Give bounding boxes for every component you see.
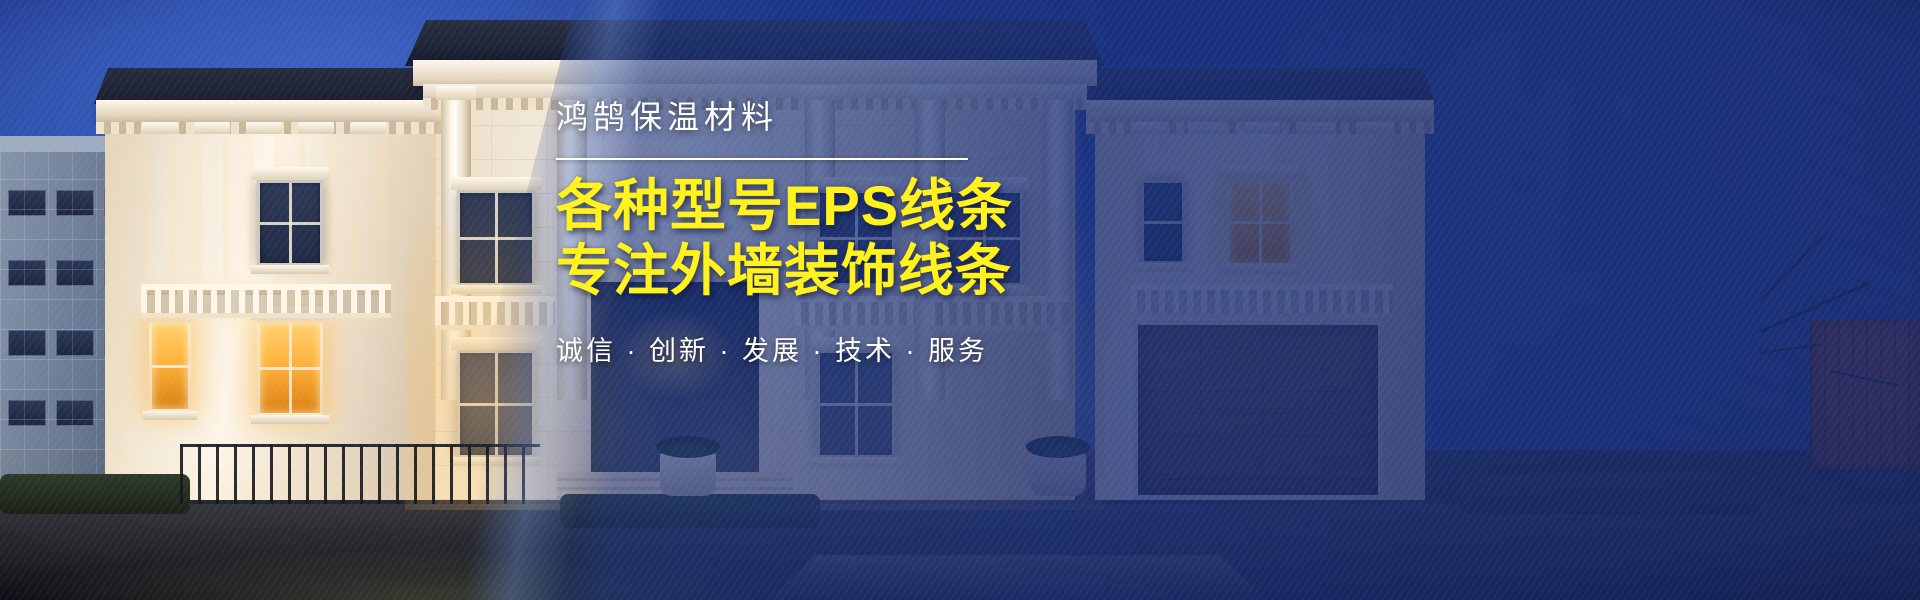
headline-line-1: 各种型号EPS线条 — [556, 174, 1256, 238]
banner-copy: 鸿鹄保温材料 各种型号EPS线条 专注外墙装饰线条 诚信 · 创新 · 发展 ·… — [556, 96, 1256, 368]
tagline: 诚信 · 创新 · 发展 · 技术 · 服务 — [556, 329, 1256, 368]
brand-name: 鸿鹄保温材料 — [556, 96, 1256, 139]
headline-line-2: 专注外墙装饰线条 — [556, 239, 1256, 303]
divider-rule — [556, 158, 968, 160]
hero-banner: 鸿鹄保温材料 各种型号EPS线条 专注外墙装饰线条 诚信 · 创新 · 发展 ·… — [0, 0, 1920, 600]
